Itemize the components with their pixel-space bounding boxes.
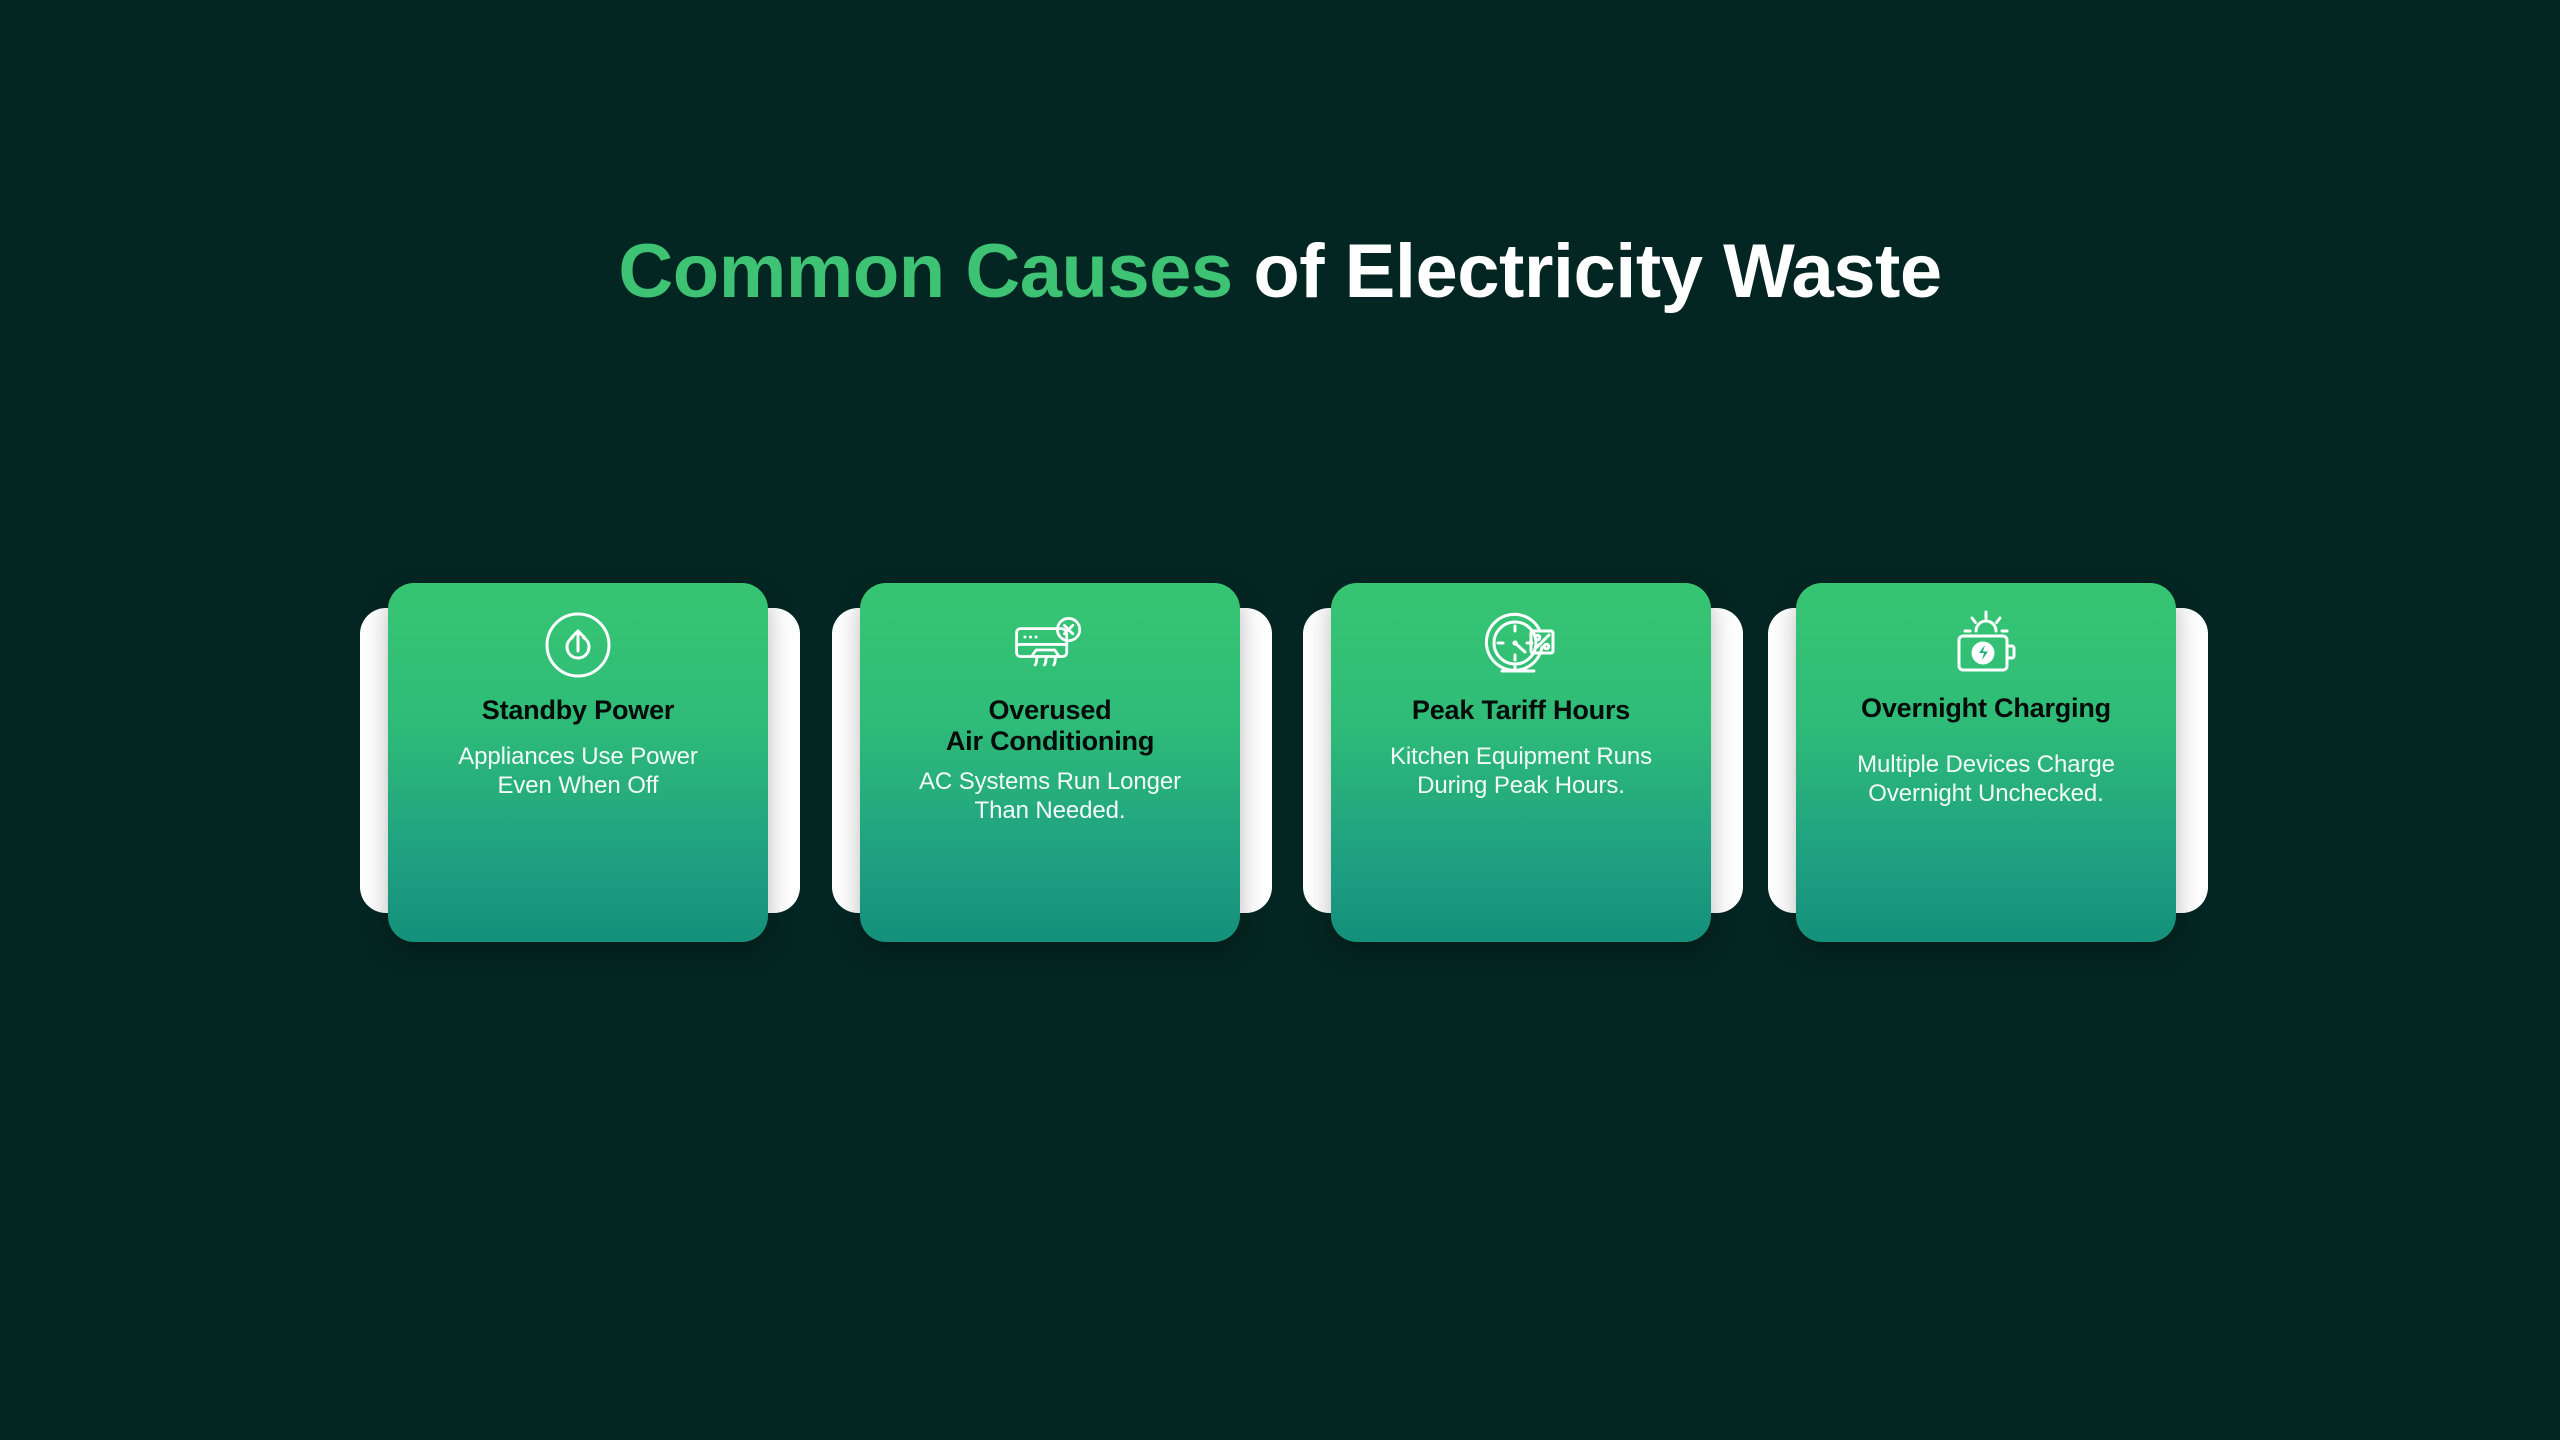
card-title: Overnight Charging (1861, 693, 2111, 724)
battery-charging-sun-icon (1947, 609, 2025, 681)
card-peak-tariff-hours[interactable]: Peak Tariff Hours Kitchen Equipment Runs… (1303, 583, 1743, 943)
card-overused-air-conditioning[interactable]: Overused Air Conditioning AC Systems Run… (832, 583, 1272, 943)
card-front-panel[interactable]: Peak Tariff Hours Kitchen Equipment Runs… (1331, 583, 1711, 942)
air-conditioner-off-icon (1011, 609, 1089, 691)
card-front-panel[interactable]: Overnight Charging Multiple Devices Char… (1796, 583, 2176, 942)
card-description: Appliances Use Power Even When Off (458, 742, 697, 801)
power-standby-circle-arrow-icon (539, 609, 617, 681)
card-description: AC Systems Run Longer Than Needed. (919, 767, 1181, 826)
card-front-panel[interactable]: Standby Power Appliances Use Power Even … (388, 583, 768, 942)
page-title: Common Causes of Electricity Waste (0, 230, 2560, 314)
card-title: Peak Tariff Hours (1412, 695, 1630, 726)
cards-row: Standby Power Appliances Use Power Even … (360, 583, 2208, 963)
page-title-accent: Common Causes (618, 229, 1232, 314)
page-title-rest: of Electricity Waste (1233, 229, 1942, 314)
clock-percent-tariff-icon (1482, 609, 1560, 681)
page-header: Common Causes of Electricity Waste (0, 230, 2560, 314)
card-front-panel[interactable]: Overused Air Conditioning AC Systems Run… (860, 583, 1240, 942)
card-title: Standby Power (482, 695, 674, 726)
card-standby-power[interactable]: Standby Power Appliances Use Power Even … (360, 583, 800, 943)
card-title: Overused Air Conditioning (946, 695, 1154, 757)
card-overnight-charging[interactable]: Overnight Charging Multiple Devices Char… (1768, 583, 2208, 943)
card-description: Kitchen Equipment Runs During Peak Hours… (1390, 742, 1652, 801)
card-description: Multiple Devices Charge Overnight Unchec… (1857, 750, 2115, 809)
